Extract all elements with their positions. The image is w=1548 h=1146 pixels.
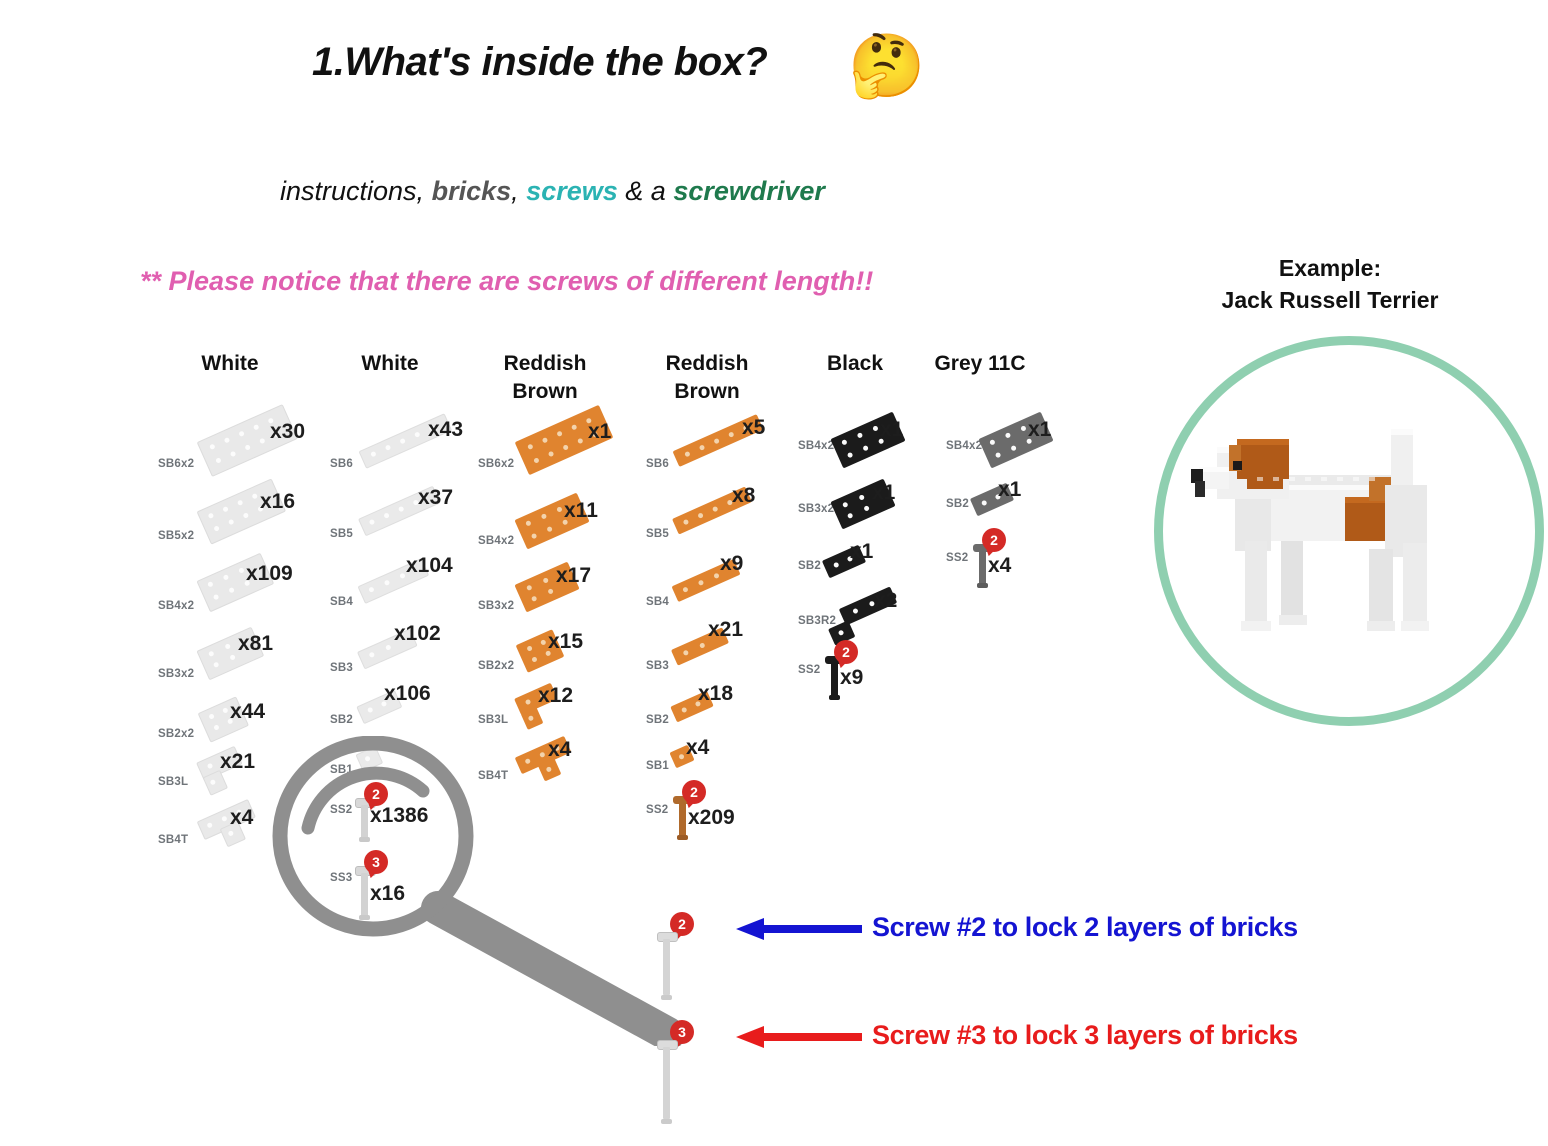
brick-quantity: x21 xyxy=(220,750,255,774)
screw-code: SS2 xyxy=(646,804,668,816)
brick-code: SB3L xyxy=(478,714,508,726)
brick-quantity: x4 xyxy=(686,736,709,760)
screw-quantity: x1386 xyxy=(370,804,428,828)
column-header-reddish-brown-2: Reddish Brown xyxy=(622,350,792,406)
notice-text: ** Please notice that there are screws o… xyxy=(140,266,873,297)
brick-quantity: x81 xyxy=(238,632,273,656)
brick-code: SB4x2 xyxy=(158,600,194,612)
brick-quantity: x17 xyxy=(556,564,591,588)
screw-badge: 2 xyxy=(364,782,388,806)
brick-code: SB4 xyxy=(646,596,669,608)
brick-code: SB4T xyxy=(158,834,188,846)
brick-quantity: x106 xyxy=(384,682,431,706)
brick-code: SB2 xyxy=(646,714,669,726)
brick-code: SB5x2 xyxy=(158,530,194,542)
brick-quantity: x109 xyxy=(246,562,293,586)
screw-quantity: x4 xyxy=(988,554,1011,578)
brick-quantity: x1 xyxy=(588,420,611,444)
arrow-left-red-icon xyxy=(734,1024,864,1050)
brick-quantity: x1 xyxy=(1028,418,1051,442)
brick-quantity: x16 xyxy=(260,490,295,514)
jack-russell-terrier-model xyxy=(1173,423,1525,653)
brick-code: SB4T xyxy=(478,770,508,782)
brick-quantity: x30 xyxy=(270,420,305,444)
brick-code: SB6x2 xyxy=(478,458,514,470)
screw-quantity: x209 xyxy=(688,806,735,830)
brick-code: SB6 xyxy=(646,458,669,470)
brick-code: SB4x2 xyxy=(798,440,834,452)
brick-code: SB4 xyxy=(330,596,353,608)
example-label-line1: Example: xyxy=(1180,252,1480,284)
brick-code: SB3x2 xyxy=(158,668,194,680)
col4-head-line2: Brown xyxy=(622,378,792,406)
brick-quantity: x104 xyxy=(406,554,453,578)
brick-code: SB3L xyxy=(158,776,188,788)
screw-badge: 2 xyxy=(982,528,1006,552)
screw-code: SS2 xyxy=(946,552,968,564)
arrow-left-blue-icon xyxy=(734,916,864,942)
brick-quantity: x4 xyxy=(230,806,253,830)
brick-code: SB2x2 xyxy=(478,660,514,672)
subtitle-line: instructions, bricks, screws & a screwdr… xyxy=(280,176,825,207)
brick-quantity: x21 xyxy=(708,618,743,642)
brick-code: SB5 xyxy=(646,528,669,540)
brick-quantity: x1 xyxy=(880,418,903,442)
brick-code: SB6x2 xyxy=(158,458,194,470)
brick-code: SB3R2 xyxy=(798,615,836,627)
screw-icon xyxy=(654,1038,680,1124)
subtitle-instructions: instructions, xyxy=(280,176,424,206)
brick-code: SB3x2 xyxy=(798,503,834,515)
subtitle-screwdriver: screwdriver xyxy=(673,176,825,206)
brick-quantity: x12 xyxy=(538,684,573,708)
brick-code: SB6 xyxy=(330,458,353,470)
brick-code: SB2 xyxy=(330,714,353,726)
brick-quantity: x15 xyxy=(548,630,583,654)
brick-code: SB4x2 xyxy=(946,440,982,452)
screw-badge: 3 xyxy=(364,850,388,874)
screw-code: SS2 xyxy=(330,804,352,816)
brick-quantity: x43 xyxy=(428,418,463,442)
brick-code: SB3x2 xyxy=(478,600,514,612)
page-title: 1.What's inside the box? xyxy=(312,40,767,85)
column-header-reddish-brown-1: Reddish Brown xyxy=(460,350,630,406)
brick-code: SB5 xyxy=(330,528,353,540)
brick-quantity: x2 xyxy=(874,589,897,613)
screw-badge: 2 xyxy=(682,780,706,804)
brick-quantity: x9 xyxy=(720,552,743,576)
brick-quantity: x8 xyxy=(732,484,755,508)
legend-text-screw3: Screw #3 to lock 3 layers of bricks xyxy=(872,1020,1298,1051)
brick-quantity: x44 xyxy=(230,700,265,724)
brick-shape-1x1 xyxy=(355,747,380,771)
brick-quantity: x4 xyxy=(548,738,571,762)
brick-code: SB3 xyxy=(646,660,669,672)
thinking-face-emoji: 🤔 xyxy=(848,36,925,98)
subtitle-comma: , xyxy=(511,176,519,206)
brick-code: SB2x2 xyxy=(158,728,194,740)
col4-head-line1: Reddish xyxy=(622,350,792,378)
brick-quantity: x11 xyxy=(564,499,598,523)
screw-code: SS3 xyxy=(330,872,352,884)
brick-code: SB2 xyxy=(798,560,821,572)
example-label: Example: Jack Russell Terrier xyxy=(1180,252,1480,316)
subtitle-bricks: bricks xyxy=(432,176,512,206)
brick-quantity: x1 xyxy=(850,540,873,564)
magnifier-icon xyxy=(268,736,688,1046)
subtitle-ampersand: & a xyxy=(625,176,666,206)
col3-head-line1: Reddish xyxy=(460,350,630,378)
brick-quantity: x1 xyxy=(872,481,895,505)
legend-text-screw2: Screw #2 to lock 2 layers of bricks xyxy=(872,912,1298,943)
brick-quantity: x5 xyxy=(742,416,765,440)
column-header-grey11c: Grey 11C xyxy=(895,350,1065,378)
brick-code: SB1 xyxy=(330,764,353,776)
brick-quantity: x102 xyxy=(394,622,441,646)
example-label-line2: Jack Russell Terrier xyxy=(1180,284,1480,316)
brick-quantity: x37 xyxy=(418,486,453,510)
brick-code: SB1 xyxy=(646,760,669,772)
example-image-ring xyxy=(1154,336,1544,726)
screw-quantity: x16 xyxy=(370,882,405,906)
column-header-white-2: White xyxy=(305,350,475,378)
column-header-white-1: White xyxy=(145,350,315,378)
subtitle-screws: screws xyxy=(526,176,618,206)
screw-code: SS2 xyxy=(798,664,820,676)
screw-quantity: x9 xyxy=(840,666,863,690)
brick-quantity: x18 xyxy=(698,682,733,706)
brick-code: SB3 xyxy=(330,662,353,674)
col3-head-line2: Brown xyxy=(460,378,630,406)
brick-code: SB2 xyxy=(946,498,969,510)
brick-quantity: x1 xyxy=(998,478,1021,502)
screw-badge: 2 xyxy=(834,640,858,664)
brick-code: SB4x2 xyxy=(478,535,514,547)
screw-icon xyxy=(654,930,680,1000)
